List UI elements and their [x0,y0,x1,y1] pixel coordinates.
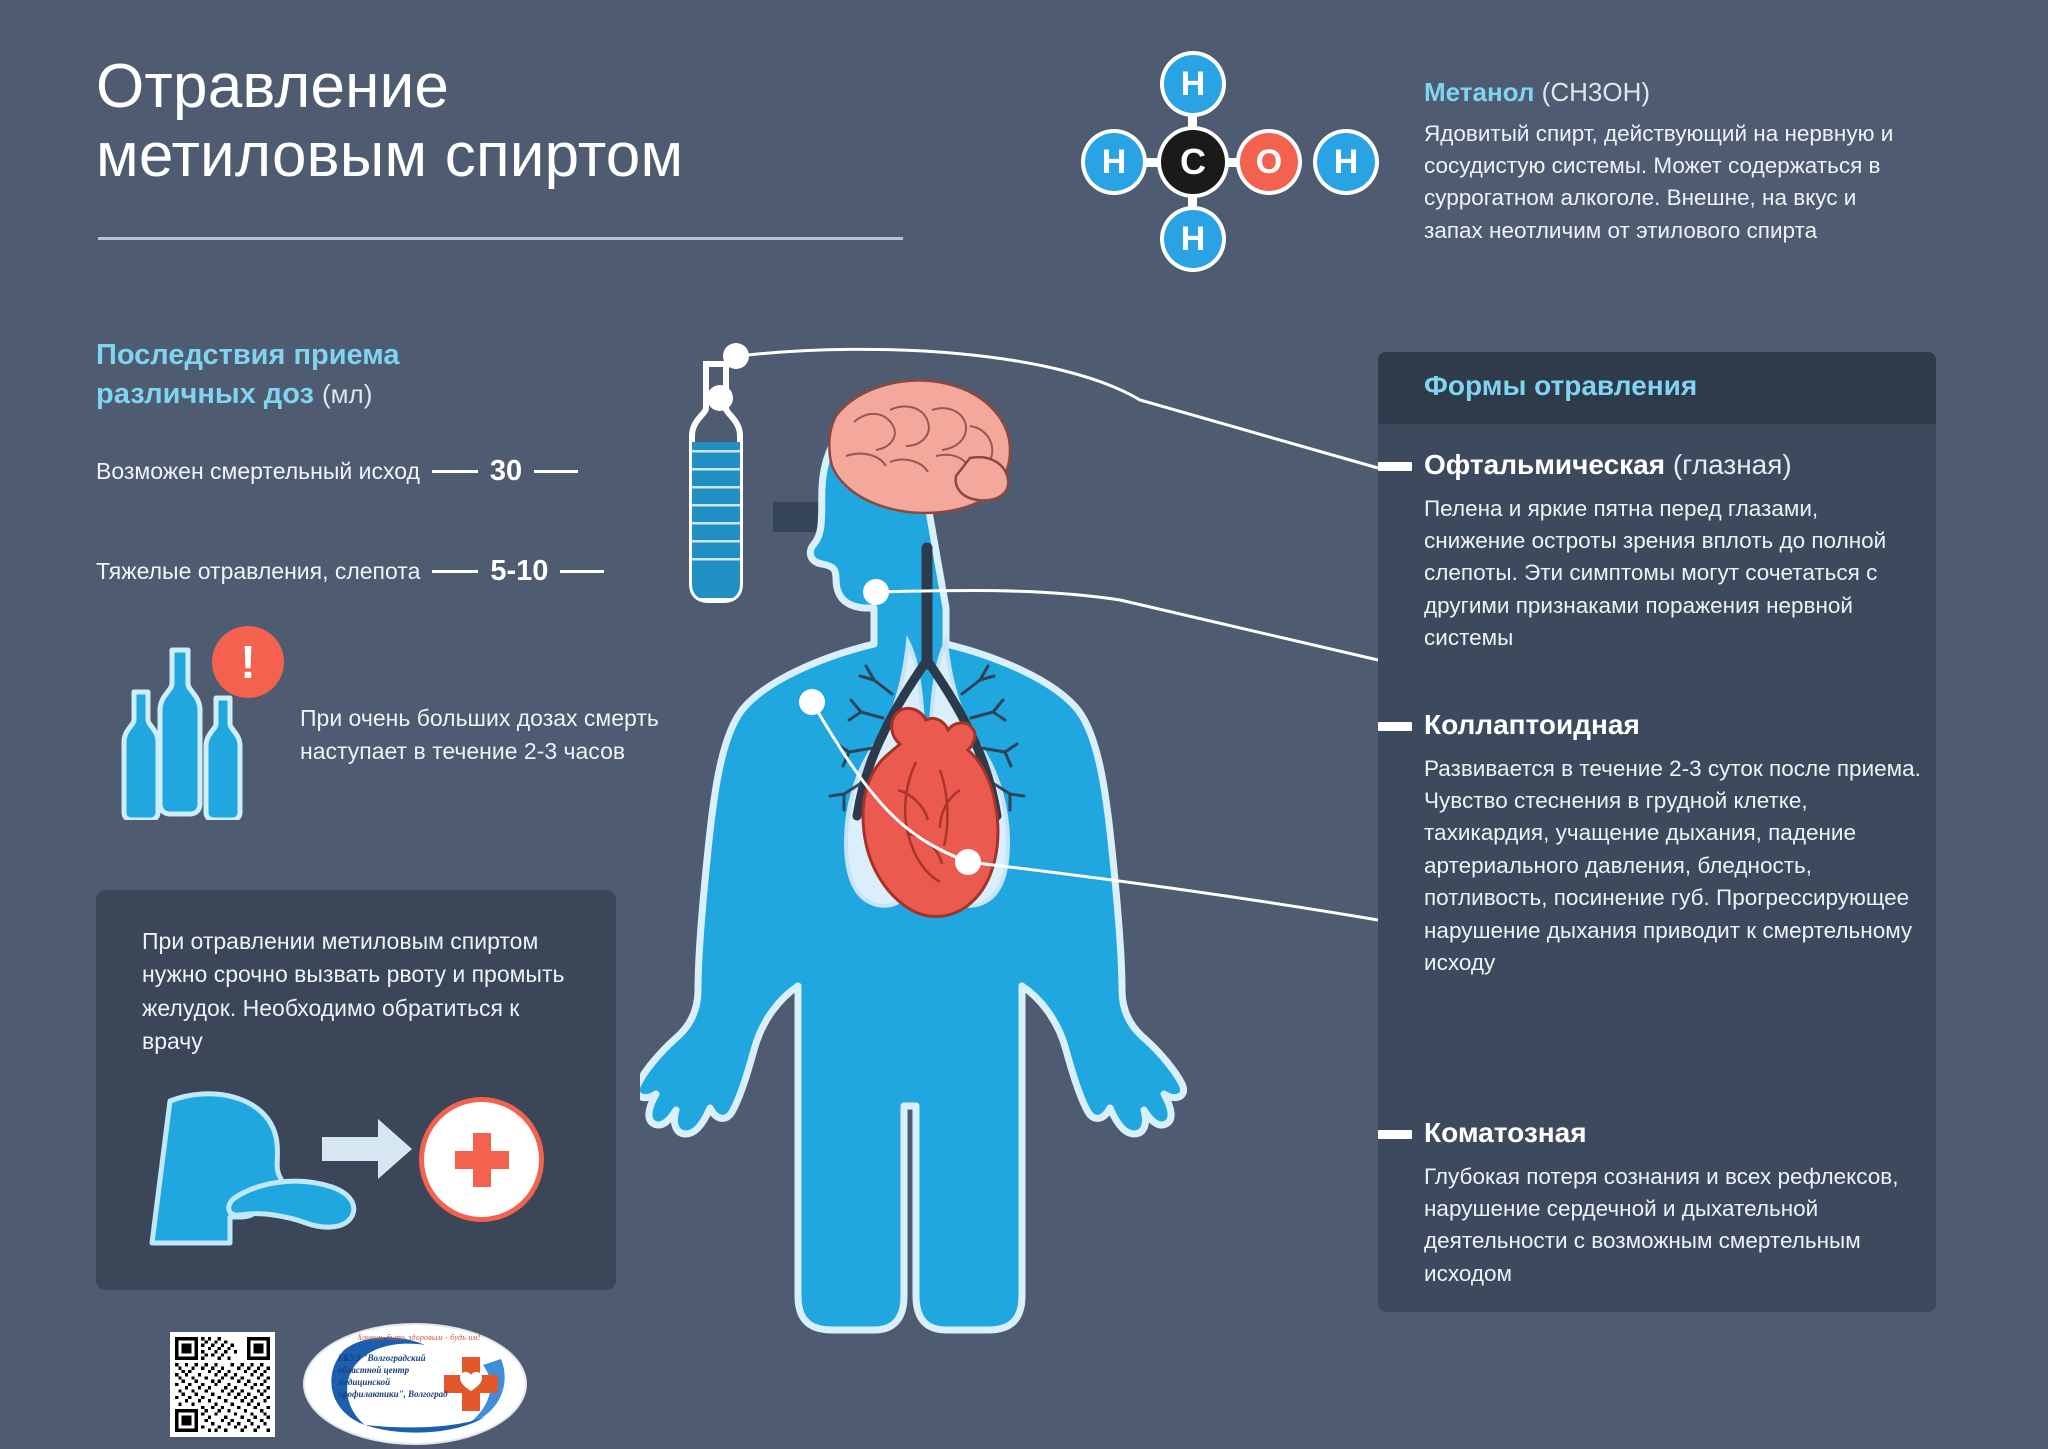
form-body-ophthalmic: Пелена и яркие пятна перед глазами, сниж… [1424,493,1924,655]
form-title-collaptoid: Коллаптоидная [1424,708,1924,742]
page-title-line2: метиловым спиртом [96,121,926,190]
methanol-molecule-diagram: H H C O H H [1085,55,1320,275]
first-aid-text: При отравлении метиловым спиртом нужно с… [142,925,582,1058]
form-name-ophthalmic: Офтальмическая [1424,449,1665,480]
form-tick-ophthalmic [1378,462,1412,471]
brain-organ [829,381,1010,513]
poisoning-forms-heading: Формы отравления [1424,370,1697,402]
form-item-comatose: Коматозная Глубокая потеря сознания и вс… [1424,1116,1924,1290]
dose-label-lethal: Возможен смертельный исход [96,458,420,485]
dose-row-severe: Тяжелые отравления, слепота 5-10 [96,555,604,588]
form-title-comatose: Коматозная [1424,1116,1924,1150]
form-title-ophthalmic: Офтальмическая (глазная) [1424,448,1924,482]
dose-label-severe: Тяжелые отравления, слепота [96,558,420,585]
qr-code[interactable] [170,1332,275,1437]
form-body-collaptoid: Развивается в течение 2-3 суток после пр… [1424,753,1924,980]
red-cross-icon [447,1125,517,1195]
doses-heading-unit: (мл) [322,379,372,409]
atom-oxygen: O [1240,133,1298,191]
form-alias-ophthalmic: (глазная) [1673,449,1792,480]
qr-code-pattern [175,1337,270,1432]
form-name-comatose: Коматозная [1424,1117,1587,1148]
atom-hydrogen-top: H [1164,55,1222,113]
methanol-formula: (CH3OH) [1542,77,1650,107]
title-divider [98,237,903,240]
form-tick-comatose [1378,1130,1412,1139]
dose-leader-line-right [534,470,578,473]
form-tick-collaptoid [1378,722,1412,731]
right-arrow-icon [322,1119,412,1179]
form-name-collaptoid: Коллаптоидная [1424,709,1640,740]
form-item-ophthalmic: Офтальмическая (глазная) Пелена и яркие … [1424,448,1924,655]
page-title-line1: Отравление [96,52,926,121]
atom-hydrogen-left: H [1085,133,1143,191]
human-body-diagram [640,370,1300,1440]
infographic-root: Отравление метиловым спиртом H H C O H H… [0,0,2048,1449]
methanol-title: Метанол (CH3OH) [1424,76,1894,109]
head-profile-icon [152,1094,354,1243]
logo-slogan: Хочешь быть здоровым - будь им! [329,1333,509,1342]
dose-leader-line-right-2 [560,570,604,573]
methanol-description: Ядовитый спирт, действующий на нервную и… [1424,118,1894,248]
atom-hydrogen-bottom: H [1164,210,1222,268]
form-item-collaptoid: Коллаптоидная Развивается в течение 2-3 … [1424,708,1924,979]
warning-exclamation-icon: ! [212,626,284,698]
dose-value-severe: 5-10 [490,555,548,588]
methanol-info-block: Метанол (CH3OH) Ядовитый спирт, действую… [1424,76,1894,247]
dose-row-lethal: Возможен смертельный исход 30 [96,455,578,488]
logo-organization-name: ГКУЗ "Волгоградский областной центр меди… [338,1352,460,1401]
dose-leader-line-2 [432,570,478,573]
medical-cross-badge [424,1102,539,1217]
methanol-name: Метанол [1424,77,1534,107]
atom-hydrogen-right: H [1317,133,1375,191]
page-title: Отравление метиловым спиртом [96,52,926,191]
dose-value-lethal: 30 [490,455,522,488]
form-body-comatose: Глубокая потеря сознания и всех рефлексо… [1424,1161,1924,1291]
organization-logo: Хочешь быть здоровым - будь им! ГКУЗ "Во… [305,1325,525,1443]
atom-carbon: C [1161,130,1225,194]
doses-heading: Последствия приема различных доз (мл) [96,336,526,413]
dose-leader-line [432,470,478,473]
